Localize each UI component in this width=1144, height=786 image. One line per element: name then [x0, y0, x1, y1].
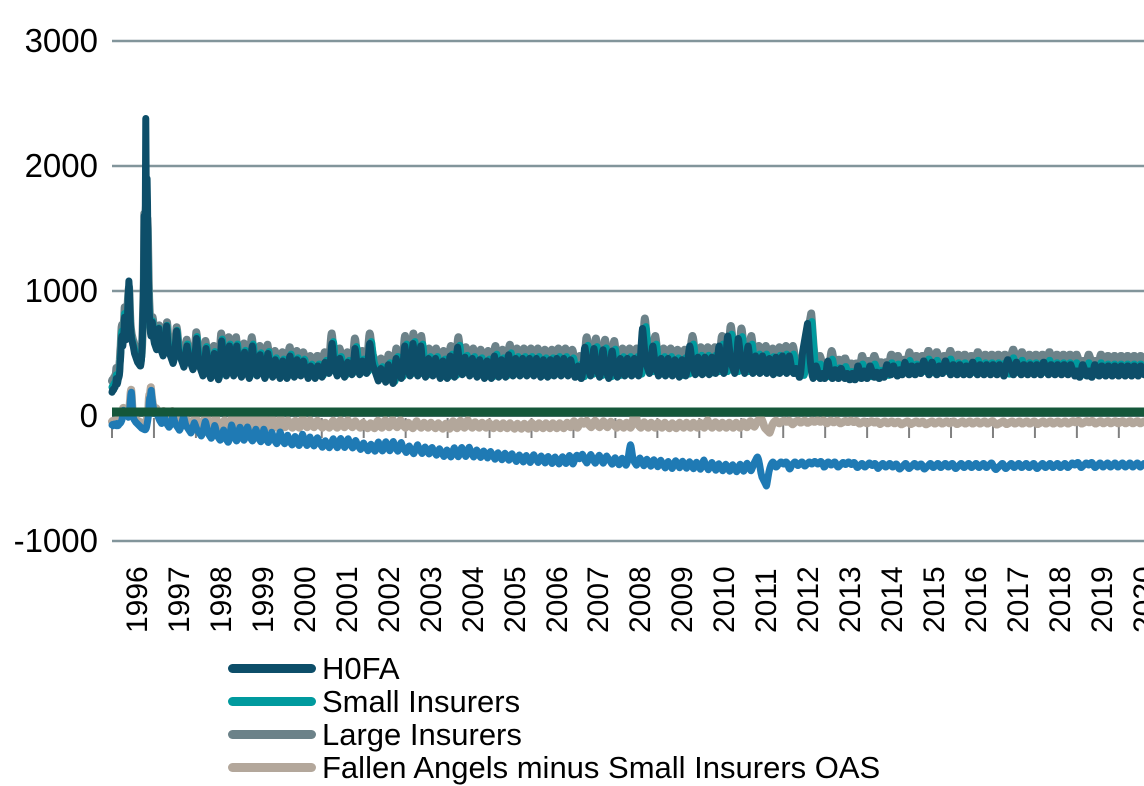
- x-axis-tick-label: 2012: [794, 566, 824, 633]
- x-axis-tick-label: 2020: [1130, 566, 1144, 633]
- legend-color-swatch: [228, 763, 316, 772]
- legend-color-swatch: [228, 664, 316, 673]
- legend-label: Fallen Angels minus Small Insurers OAS: [322, 752, 880, 783]
- legend-item[interactable]: Small Insurers: [228, 685, 1128, 718]
- x-axis-tick-label: 2002: [375, 566, 405, 633]
- legend-label: H0FA: [322, 653, 400, 684]
- x-axis-tick-label: 2003: [417, 566, 447, 633]
- x-axis-tick-label: 1996: [123, 566, 153, 633]
- chart-legend: H0FASmall InsurersLarge InsurersFallen A…: [228, 652, 1128, 784]
- x-axis-tick-label: 2011: [752, 568, 782, 633]
- legend-item[interactable]: Fallen Angels minus Small Insurers OAS: [228, 751, 1128, 784]
- x-axis-tick-label: 2006: [543, 566, 573, 633]
- x-axis-tick-label: 1997: [165, 566, 195, 633]
- legend-label: Small Insurers: [322, 686, 520, 717]
- x-axis-tick-label: 2018: [1046, 566, 1076, 633]
- x-axis-tick-label: 1999: [249, 566, 279, 633]
- chart-container: 3000200010000-1000 199619971998199920002…: [0, 0, 1144, 786]
- x-axis-tick-label: 2005: [501, 566, 531, 633]
- x-axis-tick-label: 2008: [626, 566, 656, 633]
- x-axis-tick-label: 2014: [878, 566, 908, 633]
- x-axis-tick-label: 2001: [333, 566, 363, 633]
- x-axis-tick-label: 2019: [1088, 566, 1118, 633]
- x-axis-tick-label: 2000: [291, 566, 321, 633]
- series-line: [112, 390, 1144, 486]
- x-axis-tick-label: 2017: [1004, 566, 1034, 633]
- x-axis-tick-label: 2009: [668, 566, 698, 633]
- y-axis-tick-label: 0: [0, 399, 98, 432]
- x-axis-tick-label: 2016: [962, 566, 992, 633]
- y-axis-tick-label: 1000: [0, 274, 98, 307]
- data-series-group: [112, 119, 1144, 487]
- y-axis-tick-label: 2000: [0, 149, 98, 182]
- legend-label: Large Insurers: [322, 719, 522, 750]
- legend-item[interactable]: H0FA: [228, 652, 1128, 685]
- x-axis-tick-label: 2007: [584, 566, 614, 633]
- legend-item[interactable]: Large Insurers: [228, 718, 1128, 751]
- legend-color-swatch: [228, 730, 316, 739]
- x-axis-tick-label: 2013: [836, 566, 866, 633]
- x-axis-tick-label: 2010: [710, 566, 740, 633]
- y-axis-tick-label: -1000: [0, 524, 98, 557]
- x-axis-tick-label: 1998: [207, 566, 237, 633]
- legend-color-swatch: [228, 697, 316, 706]
- x-axis-tick-label: 2004: [459, 566, 489, 633]
- y-axis-tick-label: 3000: [0, 24, 98, 57]
- x-axis-tick-label: 2015: [920, 566, 950, 633]
